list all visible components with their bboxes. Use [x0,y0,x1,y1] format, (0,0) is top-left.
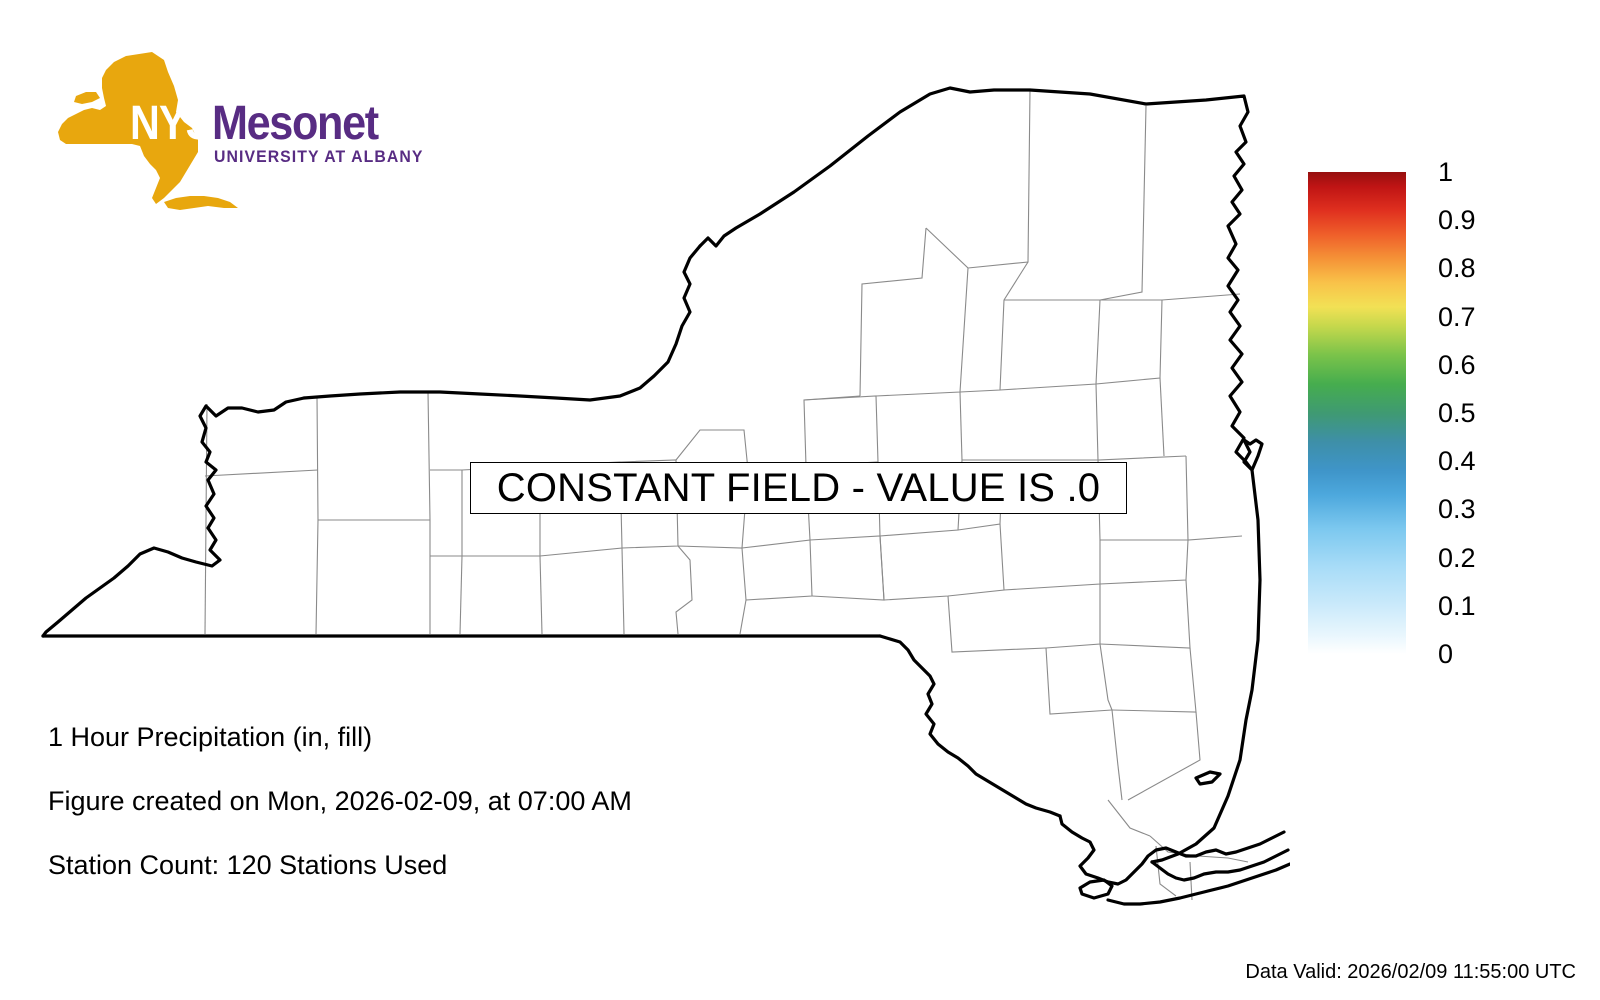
colorbar-tick-0: 0 [1438,640,1508,668]
colorbar-gradient [1308,172,1406,654]
figure-caption: 1 Hour Precipitation (in, fill) Figure c… [48,722,868,914]
colorbar-tick-0-8: 0.8 [1438,254,1508,282]
colorbar: 10.90.80.70.60.50.40.30.20.10 [1308,172,1558,662]
colorbar-tick-labels: 10.90.80.70.60.50.40.30.20.10 [1412,158,1552,668]
caption-station-count: Station Count: 120 Stations Used [48,850,868,881]
colorbar-tick-0-5: 0.5 [1438,399,1508,427]
caption-created: Figure created on Mon, 2026-02-09, at 07… [48,786,868,817]
constant-field-banner: CONSTANT FIELD - VALUE IS .0 [470,462,1127,514]
colorbar-tick-0-6: 0.6 [1438,351,1508,379]
colorbar-tick-0-7: 0.7 [1438,303,1508,331]
colorbar-tick-0-1: 0.1 [1438,592,1508,620]
logo-nys-text: NYS [130,96,212,151]
colorbar-tick-1: 1 [1438,158,1508,186]
colorbar-tick-0-2: 0.2 [1438,544,1508,572]
colorbar-tick-0-9: 0.9 [1438,206,1508,234]
logo-university-text: UNIVERSITY AT ALBANY [214,148,423,167]
nys-mesonet-logo: NYS Mesonet UNIVERSITY AT ALBANY [52,52,402,212]
colorbar-tick-0-3: 0.3 [1438,495,1508,523]
constant-field-label: CONSTANT FIELD - VALUE IS .0 [497,466,1101,511]
data-valid-timestamp: Data Valid: 2026/02/09 11:55:00 UTC [1245,961,1576,984]
caption-variable: 1 Hour Precipitation (in, fill) [48,722,868,753]
logo-wordmark: NYS Mesonet UNIVERSITY AT ALBANY [130,96,450,206]
colorbar-tick-0-4: 0.4 [1438,447,1508,475]
logo-mesonet-text: Mesonet [212,96,378,151]
